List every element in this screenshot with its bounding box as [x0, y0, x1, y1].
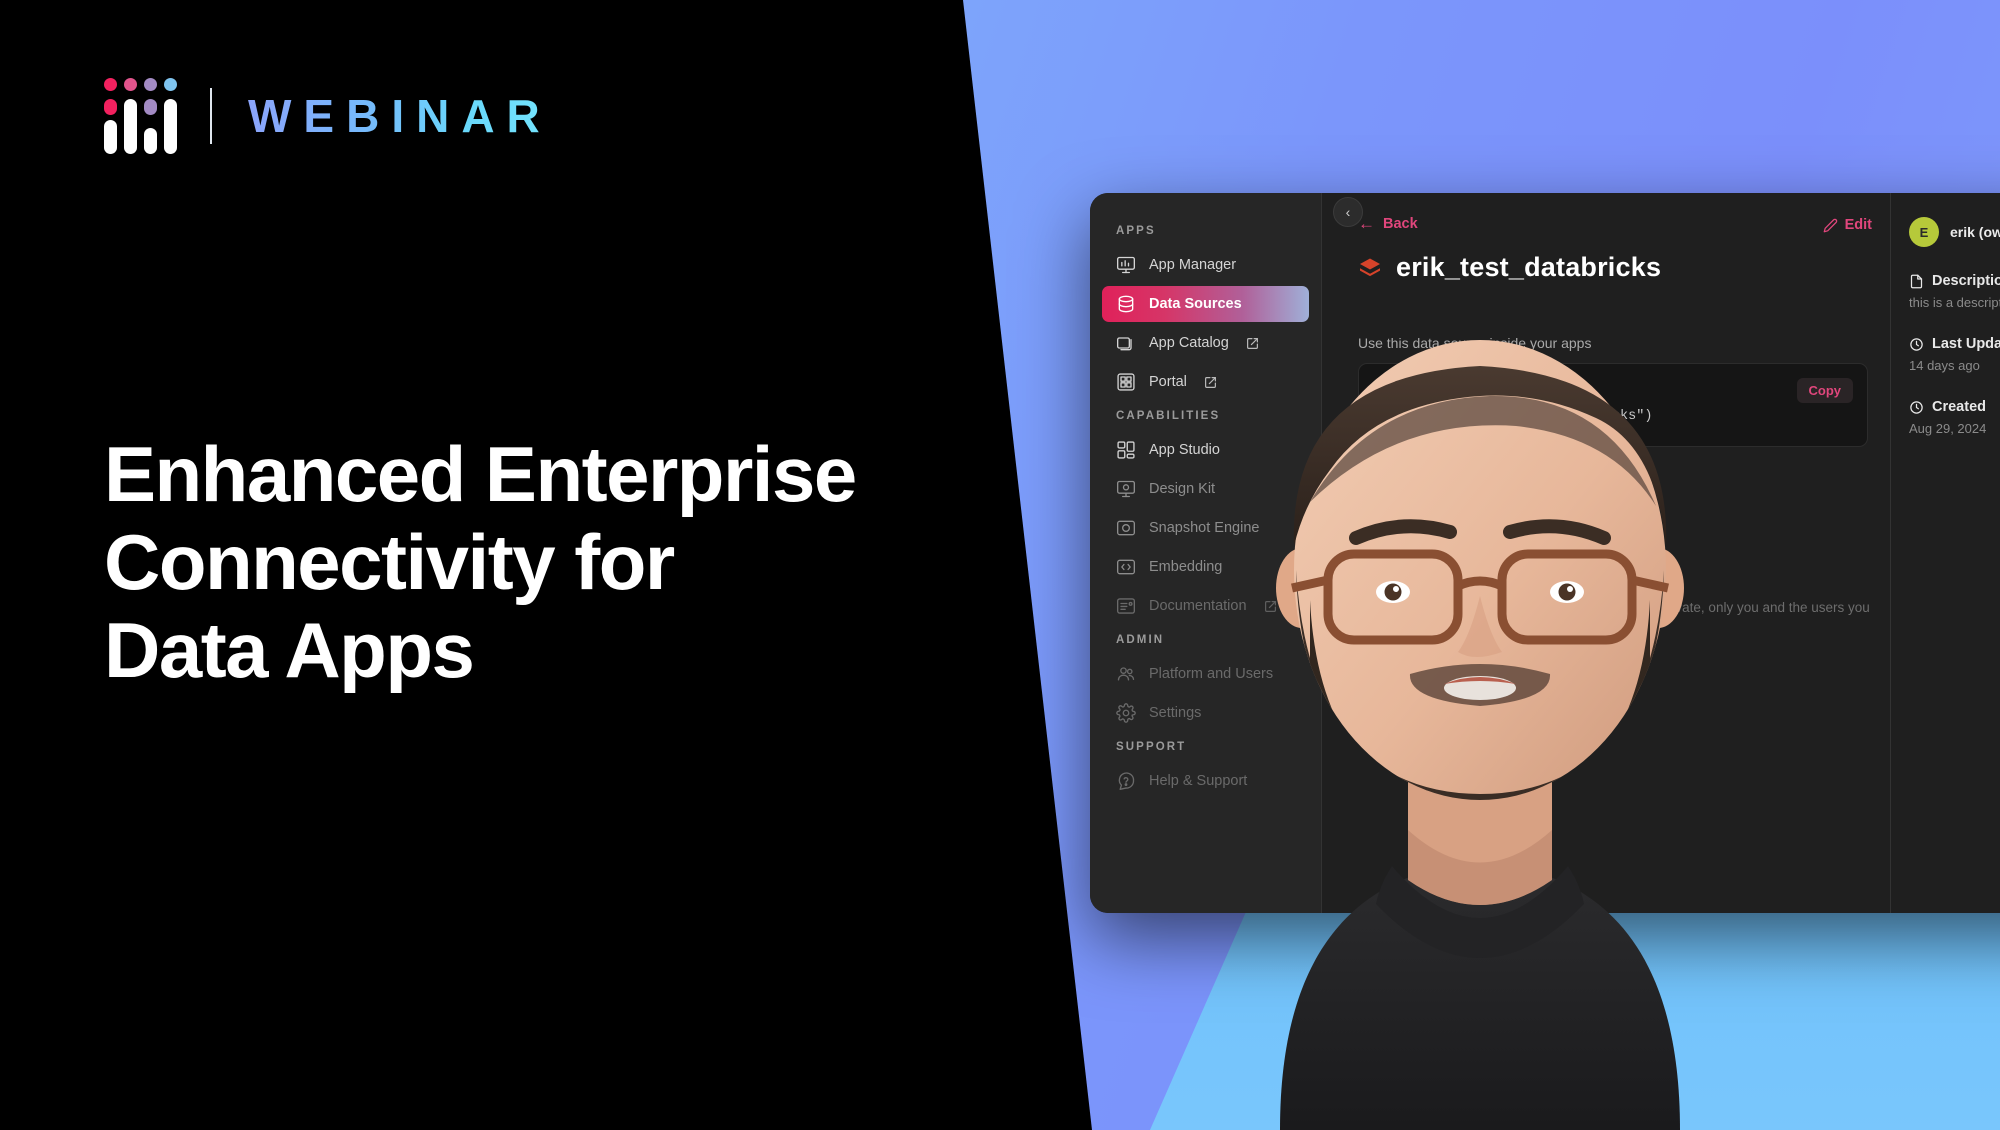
grid-squares-icon [1116, 372, 1136, 392]
created-label: Created [1932, 399, 1986, 415]
logo-mid-1 [104, 99, 117, 115]
owner-name: erik (owner) [1950, 224, 2000, 240]
logo-bar-3 [144, 128, 157, 154]
logo-bar-4 [164, 99, 177, 154]
avatar: E [1909, 217, 1939, 247]
sidebar-group-label-apps: APPS [1090, 225, 1321, 237]
last-updated-value: 14 days ago [1909, 358, 2000, 373]
back-button-label: Back [1383, 216, 1418, 232]
sidebar-collapse-button[interactable]: ‹ [1333, 197, 1363, 227]
created-block: Created Aug 29, 2024 [1909, 399, 2000, 436]
webinar-slide: WEBINAR Enhanced Enterprise Connectivity… [0, 0, 2000, 1130]
description-value: this is a description [1909, 295, 2000, 310]
description-heading: Description [1909, 273, 2000, 289]
logo-bar-1 [104, 120, 117, 154]
logo-dot-4 [164, 78, 177, 91]
camera-icon [1116, 518, 1136, 538]
brand-lockup: WEBINAR [104, 78, 552, 154]
help-chat-icon [1116, 771, 1136, 791]
database-icon [1116, 294, 1136, 314]
logo-bar-2 [124, 99, 137, 154]
monitor-gear-icon [1116, 479, 1136, 499]
description-label: Description [1932, 273, 2000, 289]
data-source-meta-panel: E erik (owner) Description this is a des… [1890, 193, 2000, 913]
created-value: Aug 29, 2024 [1909, 421, 2000, 436]
back-button[interactable]: ← Back [1358, 215, 1890, 232]
last-updated-label: Last Updated [1932, 336, 2000, 352]
last-updated-block: Last Updated 14 days ago [1909, 336, 2000, 373]
pencil-icon [1823, 218, 1838, 233]
headline-line-3: Data Apps [104, 606, 934, 694]
gear-icon [1116, 703, 1136, 723]
logo-dot-1 [104, 78, 117, 91]
created-heading: Created [1909, 399, 2000, 415]
logo-dot-3 [144, 78, 157, 91]
windows-stack-icon [1116, 333, 1136, 353]
headline-line-2: Connectivity for [104, 518, 934, 606]
edit-button-label: Edit [1845, 217, 1872, 233]
speaker-portrait [1160, 270, 1800, 1130]
last-updated-heading: Last Updated [1909, 336, 2000, 352]
page-title: Enhanced Enterprise Connectivity for Dat… [104, 430, 934, 694]
code-brackets-icon [1116, 557, 1136, 577]
app-manager-icon [1116, 255, 1136, 275]
clock-icon [1909, 400, 1924, 415]
clock-icon [1909, 337, 1924, 352]
logo-dot-2 [124, 78, 137, 91]
copy-button[interactable]: Copy [1797, 378, 1854, 403]
chevron-left-icon: ‹ [1346, 204, 1351, 220]
owner-row: E erik (owner) [1909, 217, 2000, 247]
brand-divider [210, 88, 212, 144]
sigma-computing-logo [104, 78, 176, 154]
layout-blocks-icon [1116, 440, 1136, 460]
description-block: Description this is a description [1909, 273, 2000, 310]
headline-line-1: Enhanced Enterprise [104, 430, 934, 518]
edit-button[interactable]: Edit [1823, 217, 1890, 233]
logo-mid-3 [144, 99, 157, 115]
webinar-label: WEBINAR [248, 93, 552, 139]
document-lines-icon [1116, 596, 1136, 616]
document-icon [1909, 274, 1924, 289]
users-icon [1116, 664, 1136, 684]
